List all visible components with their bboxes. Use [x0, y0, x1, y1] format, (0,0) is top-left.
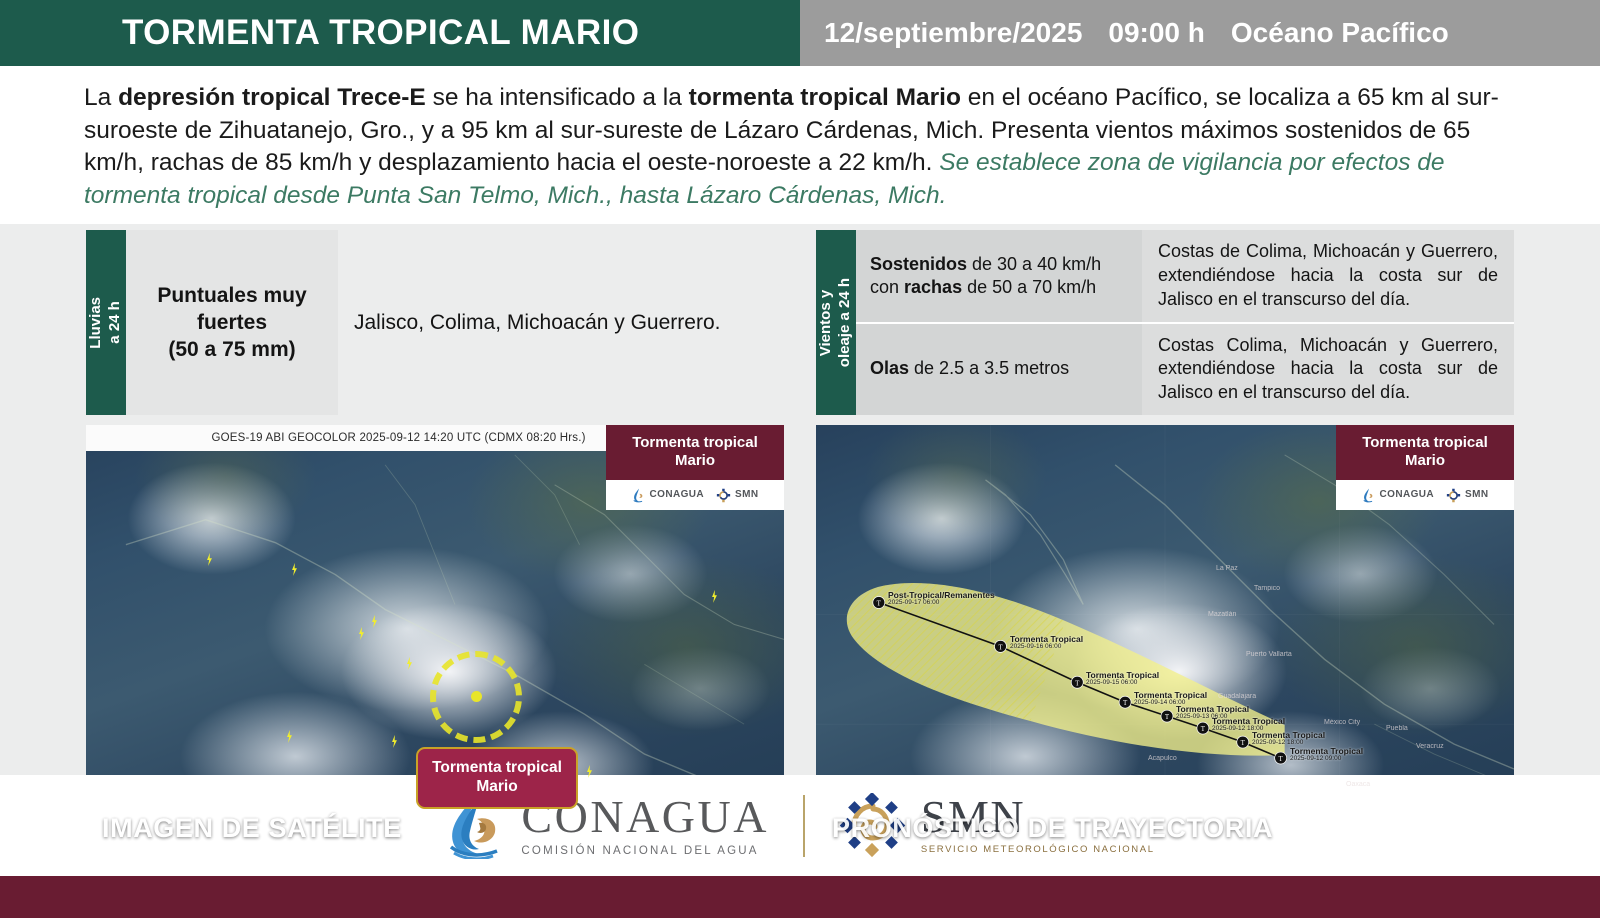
conagua-drop-icon	[1362, 488, 1376, 503]
satellite-source-text: GOES-19 ABI GEOCOLOR 2025-09-12 14:20 UT…	[86, 432, 651, 444]
rain-intensity-range: (50 a 75 mm)	[168, 336, 295, 363]
city-label: Oaxaca	[1346, 781, 1370, 788]
conagua-mini-logo: CONAGUA	[632, 488, 704, 503]
wind-sustained-label: Sostenidos	[870, 254, 967, 274]
longitude-label: 95° W	[1438, 829, 1465, 840]
trajectory-panel-caption: PRONÓSTICO DE TRAYECTORIA	[832, 813, 1273, 844]
satellite-panel-caption: IMAGEN DE SATÉLITE	[102, 813, 402, 844]
trajectory-storm-badge-title: Tormenta tropical Mario	[1336, 425, 1514, 481]
track-point-date: 2025-09-15 06:00	[1086, 680, 1159, 687]
rain-intensity-cell: Puntuales muy fuertes (50 a 75 mm)	[126, 230, 338, 415]
rain-intensity-label: Puntuales muy fuertes	[140, 282, 324, 337]
summary-storm-name: tormenta tropical Mario	[689, 84, 961, 111]
city-label: Tampico	[1254, 585, 1280, 592]
wind-gusts-label: rachas	[904, 277, 962, 297]
summary-text-2: se ha intensificado a la	[426, 84, 689, 111]
wave-value: de 2.5 a 3.5 metros	[909, 358, 1069, 378]
track-point-label: Tormenta Tropical 2025-09-12 09:00	[1290, 747, 1363, 763]
header-meta-zone: 12/septiembre/2025 09:00 h Océano Pacífi…	[800, 0, 1600, 66]
svg-text:T: T	[877, 599, 882, 607]
info-tables-row: Lluvias a 24 h Puntuales muy fuertes (50…	[0, 224, 1600, 415]
conagua-mini-wordmark: CONAGUA	[650, 490, 704, 500]
wave-group: Olas de 2.5 a 3.5 metros	[870, 357, 1128, 380]
track-point-date: 2025-09-12 09:00	[1290, 756, 1363, 763]
summary-paragraph: La depresión tropical Trece-E se ha inte…	[84, 82, 1528, 212]
wind-wave-table: Vientos y oleaje a 24 h Sostenidos de 30…	[816, 230, 1514, 415]
wave-height-cell: Olas de 2.5 a 3.5 metros	[856, 324, 1142, 415]
city-label: Guadalajara	[1218, 693, 1256, 700]
wind-regions-cell: Costas de Colima, Michoacán y Guerrero, …	[1142, 230, 1514, 321]
conagua-tagline: COMISIÓN NACIONAL DEL AGUA	[521, 845, 769, 857]
city-label: Puebla	[1386, 725, 1408, 732]
wave-label: Olas	[870, 358, 909, 378]
smn-mini-logo: SMN	[1446, 488, 1488, 503]
svg-text:T: T	[1241, 739, 1246, 747]
wind-table-side-label: Vientos y oleaje a 24 h	[816, 230, 856, 415]
header-date: 12/septiembre/2025	[824, 17, 1082, 49]
rain-table-body: Puntuales muy fuertes (50 a 75 mm) Jalis…	[126, 230, 784, 415]
svg-text:T: T	[1201, 725, 1206, 733]
smn-spiral-icon	[1446, 488, 1461, 503]
header-time: 09:00 h	[1108, 17, 1205, 49]
summary-depression-name: depresión tropical Trece-E	[118, 84, 426, 111]
svg-text:T: T	[1279, 755, 1284, 763]
conagua-mini-logo: CONAGUA	[1362, 488, 1434, 503]
footer-accent-bar	[0, 876, 1600, 918]
smn-mini-logo: SMN	[716, 488, 758, 503]
city-label: La Paz	[1216, 565, 1238, 572]
city-label: Acapulco	[1148, 755, 1177, 762]
track-point-label: Tormenta Tropical 2025-09-15 06:00	[1086, 671, 1159, 687]
header-title-zone: TORMENTA TROPICAL MARIO	[0, 0, 800, 66]
satellite-storm-badge: Tormenta tropical Mario CONAGUA	[606, 425, 784, 511]
rain-table-side-label-text: Lluvias a 24 h	[87, 297, 125, 349]
svg-text:T: T	[998, 643, 1003, 651]
satellite-badge-logos: CONAGUA SMN	[606, 480, 784, 510]
track-point-date: 2025-09-17 06:00	[888, 600, 995, 607]
track-point-label: Tormenta Tropical 2025-09-12 18:00	[1252, 731, 1325, 747]
smn-mini-wordmark: SMN	[1465, 490, 1488, 500]
rain-table-side-label: Lluvias a 24 h	[86, 230, 126, 415]
svg-text:T: T	[1123, 699, 1128, 707]
conagua-drop-icon	[632, 488, 646, 503]
satellite-storm-badge-title: Tormenta tropical Mario	[606, 425, 784, 481]
track-point-date: 2025-09-16 06:00	[1010, 644, 1083, 651]
bulletin-page: TORMENTA TROPICAL MARIO 12/septiembre/20…	[0, 0, 1600, 918]
wave-regions-cell: Costas Colima, Michoacán y Guerrero, ext…	[1142, 324, 1514, 415]
storm-center-dot-icon	[471, 691, 482, 702]
wind-speed-cell: Sostenidos de 30 a 40 km/h con rachas de…	[856, 230, 1142, 321]
summary-text-1: La	[84, 84, 118, 111]
rain-table: Lluvias a 24 h Puntuales muy fuertes (50…	[86, 230, 784, 415]
trajectory-badge-logos: CONAGUA SMN	[1336, 480, 1514, 510]
conagua-mini-wordmark: CONAGUA	[1380, 490, 1434, 500]
smn-mini-wordmark: SMN	[735, 490, 758, 500]
trajectory-panel[interactable]: TT TT TT TT Post-Tropical/Remanentes 202…	[816, 425, 1514, 850]
trajectory-storm-badge: Tormenta tropical Mario CONAGUA	[1336, 425, 1514, 511]
track-point-label: Tormenta Tropical 2025-09-16 06:00	[1010, 635, 1083, 651]
table-row: Sostenidos de 30 a 40 km/h con rachas de…	[856, 230, 1514, 321]
page-header: TORMENTA TROPICAL MARIO 12/septiembre/20…	[0, 0, 1600, 66]
track-point-label: Post-Tropical/Remanentes 2025-09-17 06:0…	[888, 591, 995, 607]
smn-spiral-icon	[716, 488, 731, 503]
page-title: TORMENTA TROPICAL MARIO	[122, 13, 639, 53]
longitude-label: 100° W	[1324, 829, 1357, 840]
rain-regions-cell: Jalisco, Colima, Michoacán y Guerrero.	[338, 230, 784, 415]
wind-table-body: Sostenidos de 30 a 40 km/h con rachas de…	[856, 230, 1514, 415]
satellite-storm-pill: Tormenta tropical Mario	[416, 747, 578, 809]
wind-table-side-label-text: Vientos y oleaje a 24 h	[817, 278, 855, 367]
svg-text:T: T	[1165, 713, 1170, 721]
svg-text:T: T	[1075, 679, 1080, 687]
city-label: México City	[1324, 719, 1360, 726]
header-basin: Océano Pacífico	[1231, 17, 1449, 49]
footer-divider	[803, 795, 805, 857]
summary-section: La depresión tropical Trece-E se ha inte…	[0, 66, 1600, 224]
wind-sustained-group: Sostenidos de 30 a 40 km/h con rachas de…	[870, 253, 1128, 300]
table-row: Puntuales muy fuertes (50 a 75 mm) Jalis…	[126, 230, 784, 415]
wind-gusts-value: de 50 a 70 km/h	[962, 277, 1096, 297]
table-row: Olas de 2.5 a 3.5 metros Costas Colima, …	[856, 322, 1514, 415]
city-label: Veracruz	[1416, 743, 1444, 750]
city-label: Puerto Vallarta	[1246, 651, 1292, 658]
city-label: Mazatlán	[1208, 611, 1236, 618]
